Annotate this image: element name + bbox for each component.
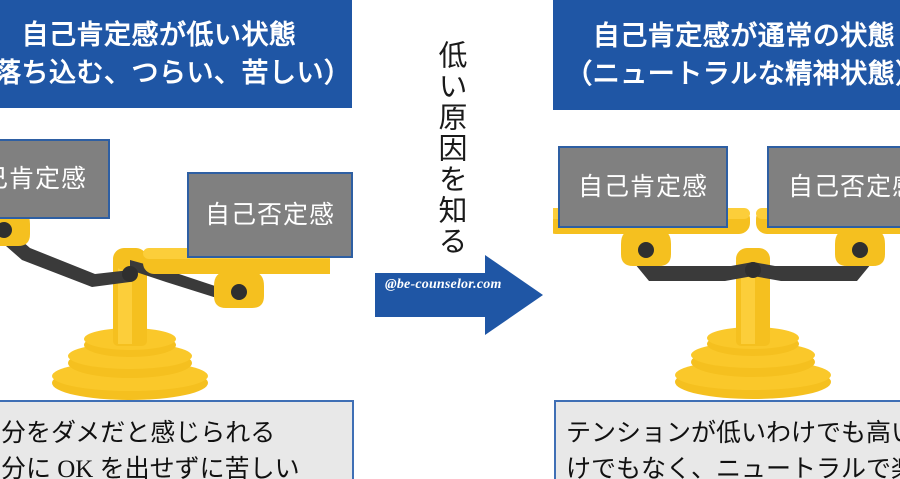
- right-desc-line-1: テンションが低いわけでも高いわ: [566, 416, 900, 452]
- left-scale-positive-label: 自己肯定感: [0, 139, 110, 219]
- right-panel-header: 自己肯定感が通常の状態 （ニュートラルな精神状態）: [553, 0, 900, 110]
- right-header-line-2: （ニュートラルな精神状態）: [565, 55, 900, 93]
- left-desc-line-2: 自分に OK を出せずに苦しい: [0, 452, 352, 479]
- left-header-line-2: （落ち込む、つらい、苦しい）: [0, 54, 352, 92]
- right-header-line-1: 自己肯定感が通常の状態: [593, 17, 896, 55]
- left-panel-header: 自己肯定感が低い状態 （落ち込む、つらい、苦しい）: [0, 0, 352, 108]
- arrow-watermark-caption: @be-counselor.com: [385, 277, 505, 293]
- right-arrow-icon: [375, 255, 545, 335]
- left-panel-description: 自分をダメだと感じられる 自分に OK を出せずに苦しい: [0, 400, 354, 479]
- left-desc-line-1: 自分をダメだと感じられる: [0, 416, 352, 452]
- left-header-line-1: 自己肯定感が低い状態: [22, 16, 297, 54]
- left-scale-negative-label: 自己否定感: [187, 172, 353, 258]
- transition-vertical-caption: 低い原因を知る: [423, 40, 465, 270]
- diagram-canvas: 自己肯定感が低い状態 （落ち込む、つらい、苦しい） 自己肯定感が通常の状態 （ニ…: [0, 0, 900, 479]
- right-scale-negative-label: 自己否定感: [767, 146, 900, 228]
- right-desc-line-2: けでもなく、ニュートラルで楽: [566, 452, 900, 479]
- right-balance-scale: [553, 200, 900, 400]
- right-panel-description: テンションが低いわけでも高いわ けでもなく、ニュートラルで楽: [554, 400, 900, 479]
- right-scale-positive-label: 自己肯定感: [558, 146, 728, 228]
